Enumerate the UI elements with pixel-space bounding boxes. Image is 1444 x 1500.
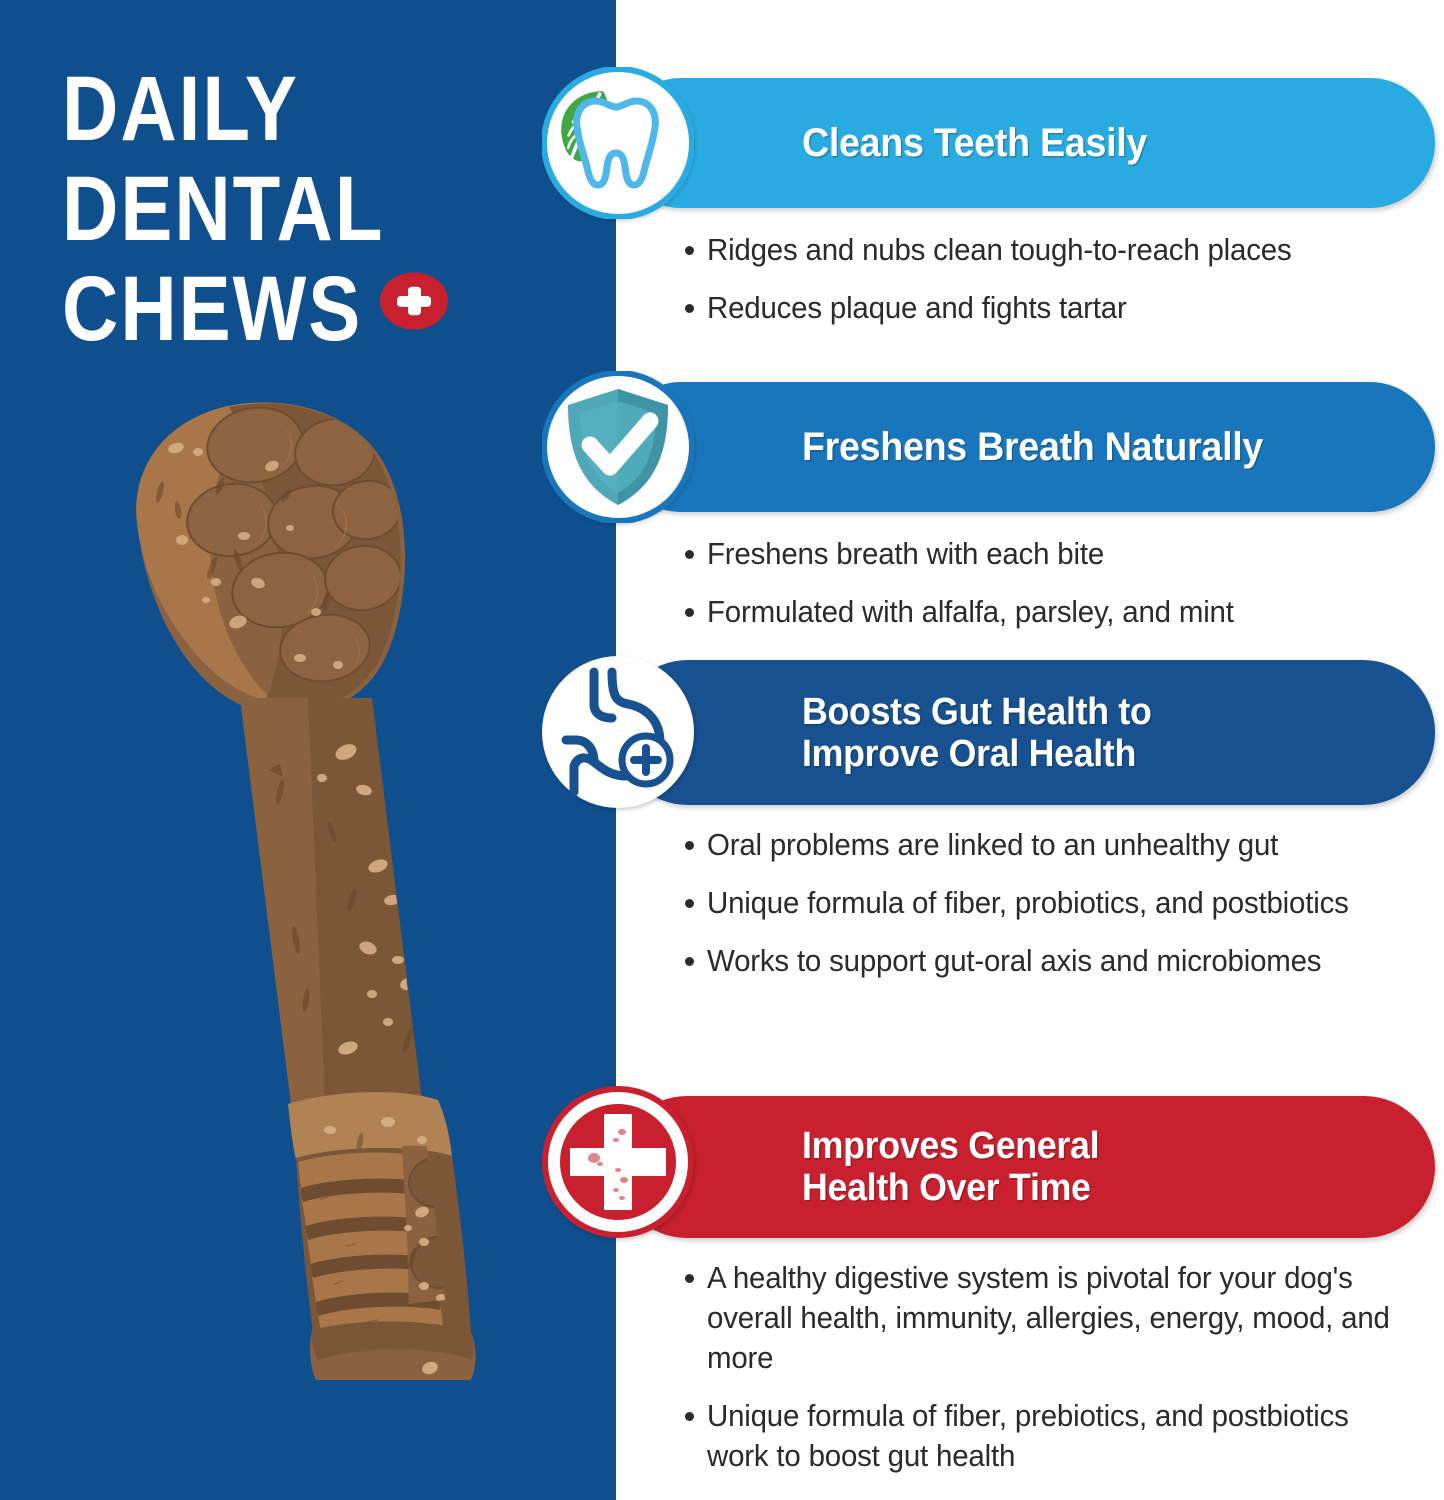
feature-banner-boosts-gut-health[interactable]: Boosts Gut Health to Improve Oral Health <box>616 660 1435 805</box>
list-item: A healthy digestive system is pivotal fo… <box>685 1258 1444 1378</box>
dog-dental-chew-illustration <box>120 400 500 1380</box>
feature-banner-freshens-breath[interactable]: Freshens Breath Naturally <box>616 382 1435 512</box>
feature-banner-cleans-teeth[interactable]: Cleans Teeth Easily <box>616 78 1435 208</box>
feature-heading: Freshens Breath Naturally <box>802 425 1263 469</box>
title-line-3-row: CHEWS <box>62 262 522 340</box>
feature-heading-line-2: Health Over Time <box>802 1167 1099 1209</box>
feature-heading-line-1: Improves General <box>802 1125 1099 1167</box>
feature-bullet-list: Ridges and nubs clean tough-to-reach pla… <box>685 230 1444 346</box>
bullet-dot <box>685 608 694 617</box>
stomach-plus-icon <box>542 656 694 808</box>
page-title: DAILY DENTAL CHEWS <box>62 62 522 340</box>
medical-cross-icon <box>380 272 448 329</box>
bullet-dot <box>685 1412 694 1421</box>
bullet-dot <box>685 1274 694 1283</box>
bullet-dot <box>685 899 694 908</box>
feature-bullet-list: A healthy digestive system is pivotal fo… <box>685 1258 1444 1494</box>
feature-heading-line-1: Boosts Gut Health to <box>802 691 1152 733</box>
bullet-dot <box>685 957 694 966</box>
title-line-3: CHEWS <box>62 262 362 354</box>
bullet-dot <box>685 550 694 559</box>
bullet-dot <box>685 304 694 313</box>
feature-heading: Cleans Teeth Easily <box>802 121 1147 165</box>
list-item: Unique formula of fiber, probiotics, and… <box>685 883 1444 923</box>
list-item: Works to support gut-oral axis and micro… <box>685 941 1444 981</box>
list-item: Unique formula of fiber, prebiotics, and… <box>685 1396 1444 1476</box>
bullet-text: Ridges and nubs clean tough-to-reach pla… <box>707 230 1291 270</box>
feature-bullet-list: Oral problems are linked to an unhealthy… <box>685 825 1444 999</box>
medical-cross-circle-icon <box>542 1086 694 1238</box>
shield-check-icon <box>542 371 694 523</box>
bullet-text: Reduces plaque and fights tartar <box>707 288 1127 328</box>
feature-bullet-list: Freshens breath with each bite Formulate… <box>685 534 1444 650</box>
bullet-text: Unique formula of fiber, prebiotics, and… <box>707 1396 1408 1476</box>
bullet-text: Freshens breath with each bite <box>707 534 1104 574</box>
title-line-1: DAILY <box>62 62 522 154</box>
title-line-2: DENTAL <box>62 162 522 254</box>
bullet-dot <box>685 841 694 850</box>
bullet-text: Formulated with alfalfa, parsley, and mi… <box>707 592 1234 632</box>
list-item: Ridges and nubs clean tough-to-reach pla… <box>685 230 1444 270</box>
feature-banner-improves-general-health[interactable]: Improves General Health Over Time <box>616 1096 1435 1238</box>
feature-heading-line-2: Improve Oral Health <box>802 733 1152 775</box>
bullet-text: Oral problems are linked to an unhealthy… <box>707 825 1278 865</box>
list-item: Formulated with alfalfa, parsley, and mi… <box>685 592 1444 632</box>
list-item: Oral problems are linked to an unhealthy… <box>685 825 1444 865</box>
list-item: Reduces plaque and fights tartar <box>685 288 1444 328</box>
tooth-with-mint-leaf-icon <box>542 67 694 219</box>
bullet-text: A healthy digestive system is pivotal fo… <box>707 1258 1408 1378</box>
bullet-dot <box>685 246 694 255</box>
bullet-text: Works to support gut-oral axis and micro… <box>707 941 1321 981</box>
list-item: Freshens breath with each bite <box>685 534 1444 574</box>
bullet-text: Unique formula of fiber, probiotics, and… <box>707 883 1349 923</box>
